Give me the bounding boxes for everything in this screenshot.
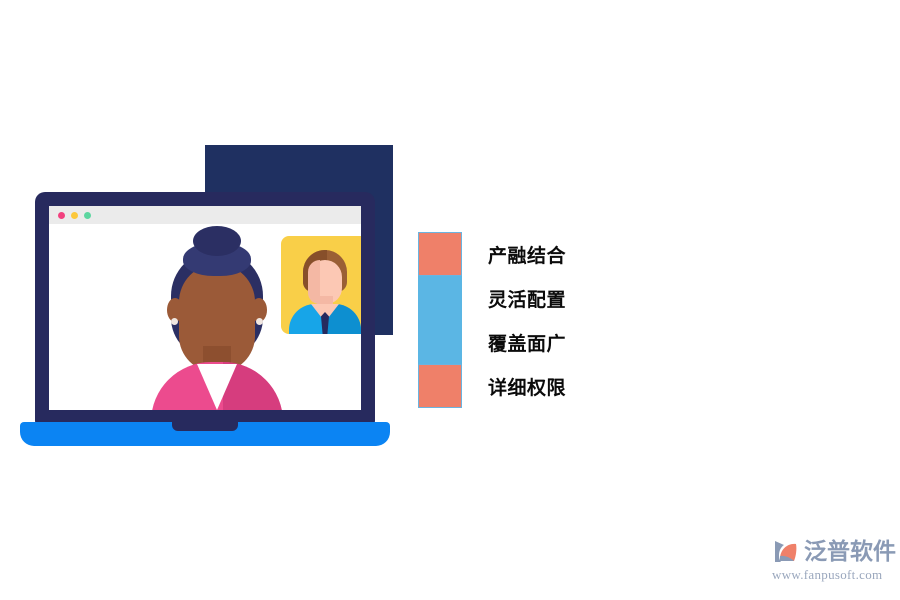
browser-title-bar (49, 206, 361, 224)
legend-item-1[interactable]: 灵活配置 (418, 276, 878, 320)
fanpu-logo-icon (772, 537, 800, 565)
legend-item-2[interactable]: 覆盖面广 (418, 320, 878, 364)
maximize-dot-icon[interactable] (84, 212, 91, 219)
laptop-screen (49, 206, 361, 410)
video-call-laptop-illustration (0, 0, 410, 600)
legend-label-2: 覆盖面广 (488, 329, 566, 356)
legend-swatch-0 (418, 232, 462, 276)
woman-avatar (137, 224, 297, 410)
watermark-url: www.fanpusoft.com (772, 567, 894, 583)
woman-earring-left (171, 318, 178, 325)
man-avatar-thumbnail[interactable] (281, 236, 361, 334)
legend-item-0[interactable]: 产融结合 (418, 232, 878, 276)
watermark-brand-row: 泛普软件 (772, 534, 894, 568)
legend-label-0: 产融结合 (488, 241, 566, 268)
close-dot-icon[interactable] (58, 212, 65, 219)
watermark: 泛普软件 www.fanpusoft.com (772, 534, 894, 588)
legend-item-3[interactable]: 详细权限 (418, 364, 878, 408)
woman-earring-right (256, 318, 263, 325)
minimize-dot-icon[interactable] (71, 212, 78, 219)
legend-swatch-1 (418, 276, 462, 320)
woman-hair-bun-top (193, 226, 241, 256)
legend-label-3: 详细权限 (488, 373, 566, 400)
page-root: 产融结合 灵活配置 覆盖面广 详细权限 泛普软件 ww (0, 0, 900, 600)
legend-label-1: 灵活配置 (488, 285, 566, 312)
legend-swatch-2 (418, 320, 462, 364)
feature-legend: 产融结合 灵活配置 覆盖面广 详细权限 (418, 232, 878, 416)
laptop-trackpad-notch (172, 422, 238, 431)
legend-swatch-3 (418, 364, 462, 408)
watermark-brand-text: 泛普软件 (804, 537, 896, 565)
video-call-canvas (49, 224, 361, 410)
laptop-lid (35, 192, 375, 424)
